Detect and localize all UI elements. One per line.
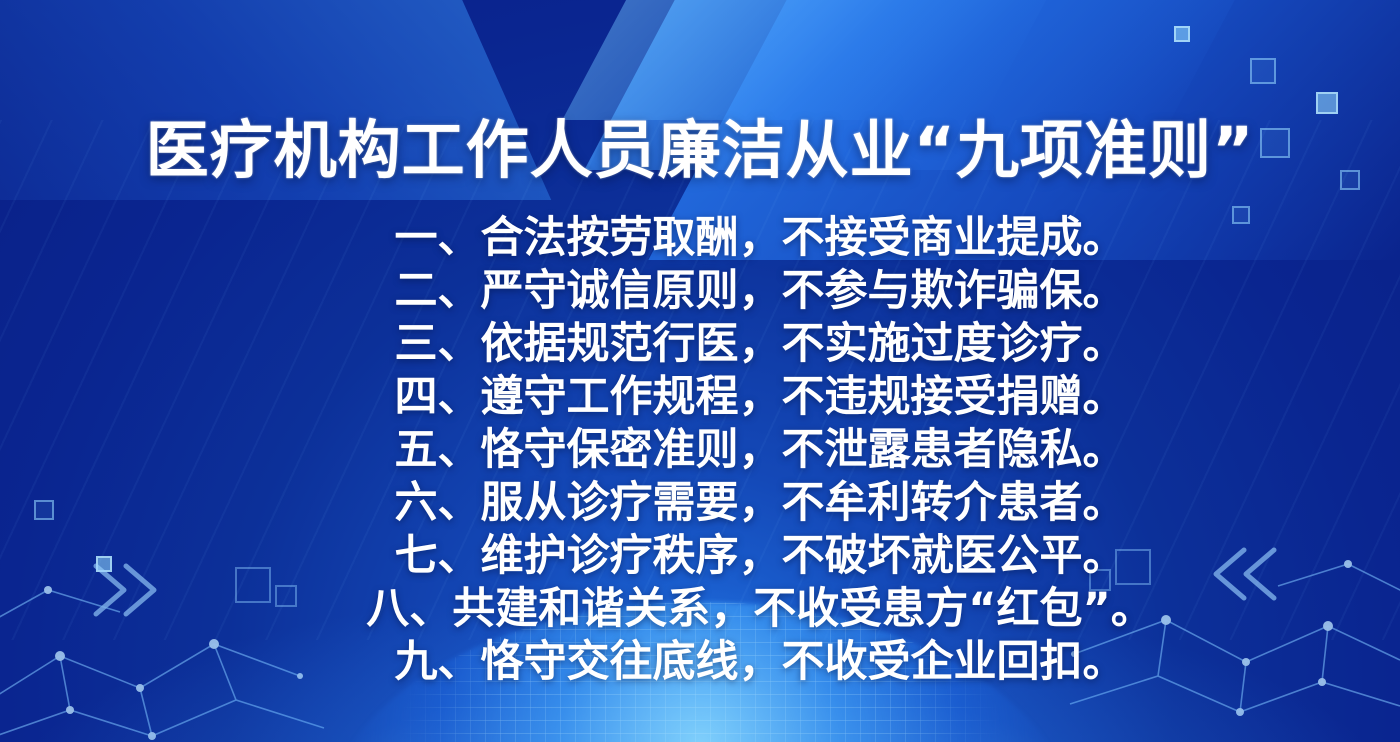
list-item: 六、服从诊疗需要，不牟利转介患者。 bbox=[0, 477, 1400, 530]
list-item: 一、合法按劳取酬，不接受商业提成。 bbox=[0, 212, 1400, 265]
list-item: 五、恪守保密准则，不泄露患者隐私。 bbox=[0, 424, 1400, 477]
page-title: 医疗机构工作人员廉洁从业“九项准则” bbox=[0, 100, 1400, 191]
list-item: 八、共建和谐关系，不收受患方“红包”。 bbox=[0, 583, 1400, 636]
list-item: 二、严守诚信原则，不参与欺诈骗保。 bbox=[0, 265, 1400, 318]
decor-square bbox=[1250, 58, 1276, 84]
list-item: 七、维护诊疗秩序，不破坏就医公平。 bbox=[0, 530, 1400, 583]
poster-canvas: 医疗机构工作人员廉洁从业“九项准则” 一、合法按劳取酬，不接受商业提成。 二、严… bbox=[0, 0, 1400, 742]
list-item: 三、依据规范行医，不实施过度诊疗。 bbox=[0, 318, 1400, 371]
decor-square bbox=[1174, 26, 1190, 42]
list-item: 四、遵守工作规程，不违规接受捐赠。 bbox=[0, 371, 1400, 424]
list-item: 九、恪守交往底线，不收受企业回扣。 bbox=[0, 636, 1400, 689]
rules-list: 一、合法按劳取酬，不接受商业提成。 二、严守诚信原则，不参与欺诈骗保。 三、依据… bbox=[0, 212, 1400, 689]
